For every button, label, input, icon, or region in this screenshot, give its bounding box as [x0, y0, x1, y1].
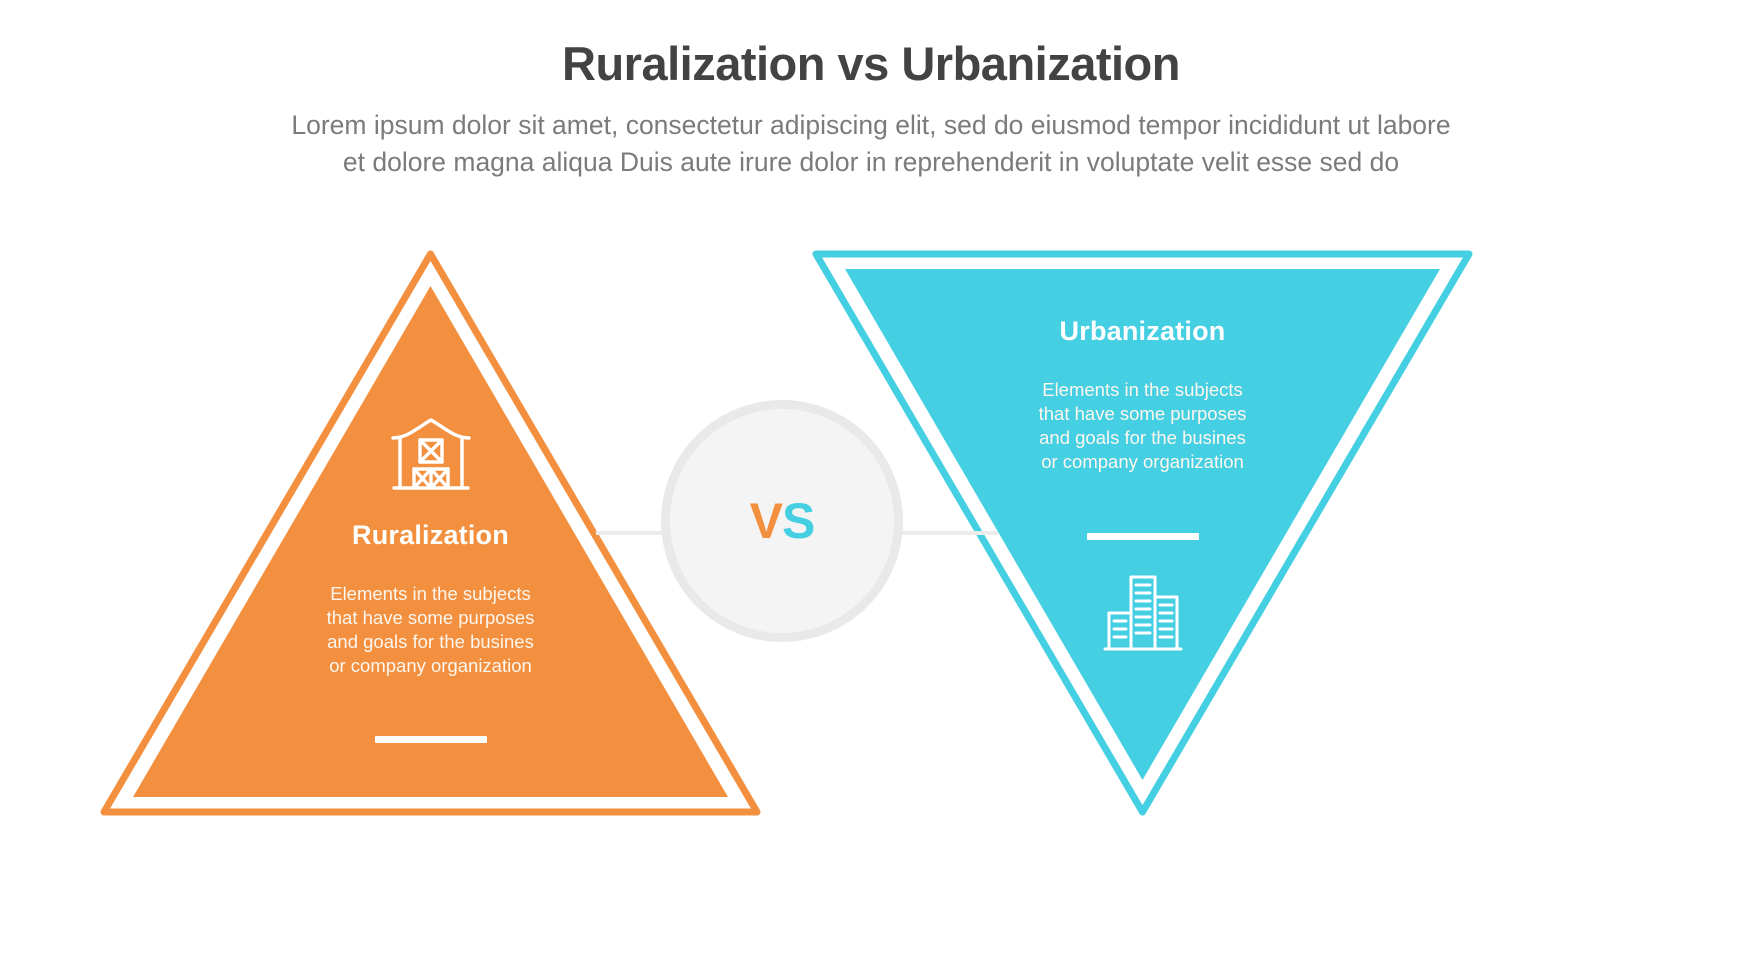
- infographic-canvas: Ruralization vs Urbanization Lorem ipsum…: [0, 0, 1742, 980]
- vs-label: VS: [750, 496, 815, 546]
- vs-letter-v: V: [750, 493, 782, 549]
- triangle-fill: [845, 269, 1440, 780]
- connector-line-right: [888, 531, 998, 535]
- subtitle-line-1: Lorem ipsum dolor sit amet, consectetur …: [70, 107, 1672, 145]
- page-title: Ruralization vs Urbanization: [0, 38, 1742, 91]
- header: Ruralization vs Urbanization Lorem ipsum…: [0, 38, 1742, 182]
- page-subtitle: Lorem ipsum dolor sit amet, consectetur …: [0, 107, 1742, 182]
- vs-badge[interactable]: VS: [661, 400, 903, 642]
- vs-letter-s: S: [782, 493, 814, 549]
- subtitle-line-2: et dolore magna aliqua Duis aute irure d…: [70, 144, 1672, 182]
- triangle-fill: [133, 286, 728, 797]
